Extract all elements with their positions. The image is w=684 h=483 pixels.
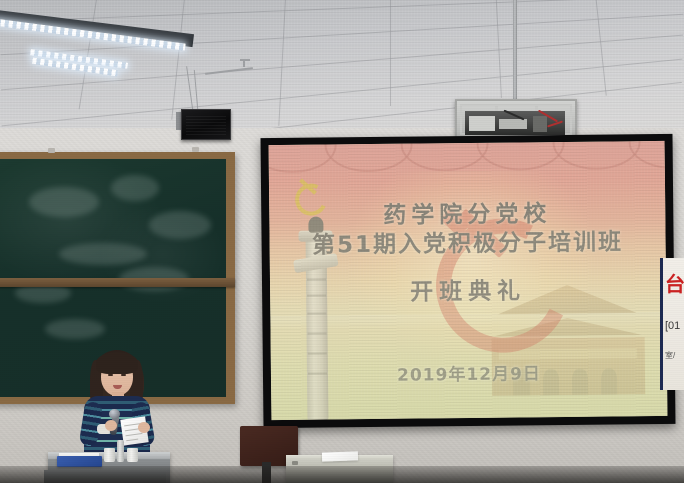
loose-papers [322,451,358,461]
chalkboard-clip-1 [48,148,55,153]
eye-right [121,374,126,376]
poster-title-fragment: 台 [665,268,684,297]
poster-sub-fragment: 室/ [665,350,675,361]
chalkboard-clip-2 [192,147,199,152]
cup-left [104,448,115,462]
ceiling-hook [240,59,250,61]
speaker-grill [186,114,226,135]
poster-number-fragment: [01 [665,320,680,332]
slide-date: 2019年12月9日 [271,358,667,387]
slide-title-line2: 第51期入党积极分子培训班 [269,222,665,260]
projector-mount-pole [513,0,517,100]
red-curtain-valance [269,141,666,197]
chalkboard-rail [0,278,235,287]
mouth [113,385,122,389]
projector-body [465,111,565,135]
cup-right [127,448,138,462]
hand-right [138,422,150,433]
slide-title-line3: 开班典礼 [270,270,666,308]
cabinet-knob[interactable] [292,461,298,465]
water-bottle [117,440,124,462]
ceiling [0,0,684,136]
eye-left [108,374,113,376]
wall-poster-right: 台 [01 室/ [660,258,684,390]
classroom-photo: 药学院分党校 第51期入党积极分子培训班 开班典礼 2019年12月9日 台 [… [0,0,684,483]
projector-cage [455,99,577,140]
projection-screen-frame: 药学院分党校 第51期入党积极分子培训班 开班典礼 2019年12月9日 [260,134,675,428]
foreground-shadow [0,466,684,483]
microphone-head [109,409,120,419]
wall-speaker [181,109,231,140]
hair-fringe [96,352,138,374]
hand-left [105,420,117,431]
projection-screen[interactable]: 药学院分党校 第51期入党积极分子培训班 开班典礼 2019年12月9日 [269,141,668,420]
ceiling-hook-stem [243,59,245,67]
